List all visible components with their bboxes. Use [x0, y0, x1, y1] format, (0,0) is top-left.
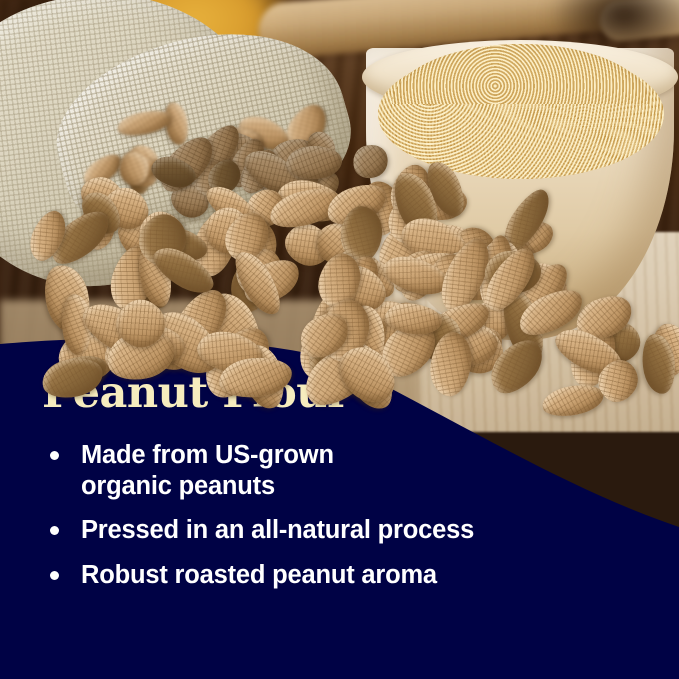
bullet-dot-icon — [50, 451, 59, 460]
list-item-label: Made from US-grown organic peanuts — [81, 440, 334, 501]
product-banner: Peanut Flour Made from US-grown organic … — [0, 0, 679, 679]
feature-list: Made from US-grown organic peanuts Press… — [42, 440, 642, 604]
bullet-dot-icon — [50, 571, 59, 580]
list-item: Robust roasted peanut aroma — [42, 560, 642, 591]
list-item-label: Pressed in an all-natural process — [81, 515, 474, 546]
list-item-label: Robust roasted peanut aroma — [81, 560, 437, 591]
list-item: Pressed in an all-natural process — [42, 515, 642, 546]
list-item: Made from US-grown organic peanuts — [42, 440, 642, 501]
bullet-dot-icon — [50, 526, 59, 535]
